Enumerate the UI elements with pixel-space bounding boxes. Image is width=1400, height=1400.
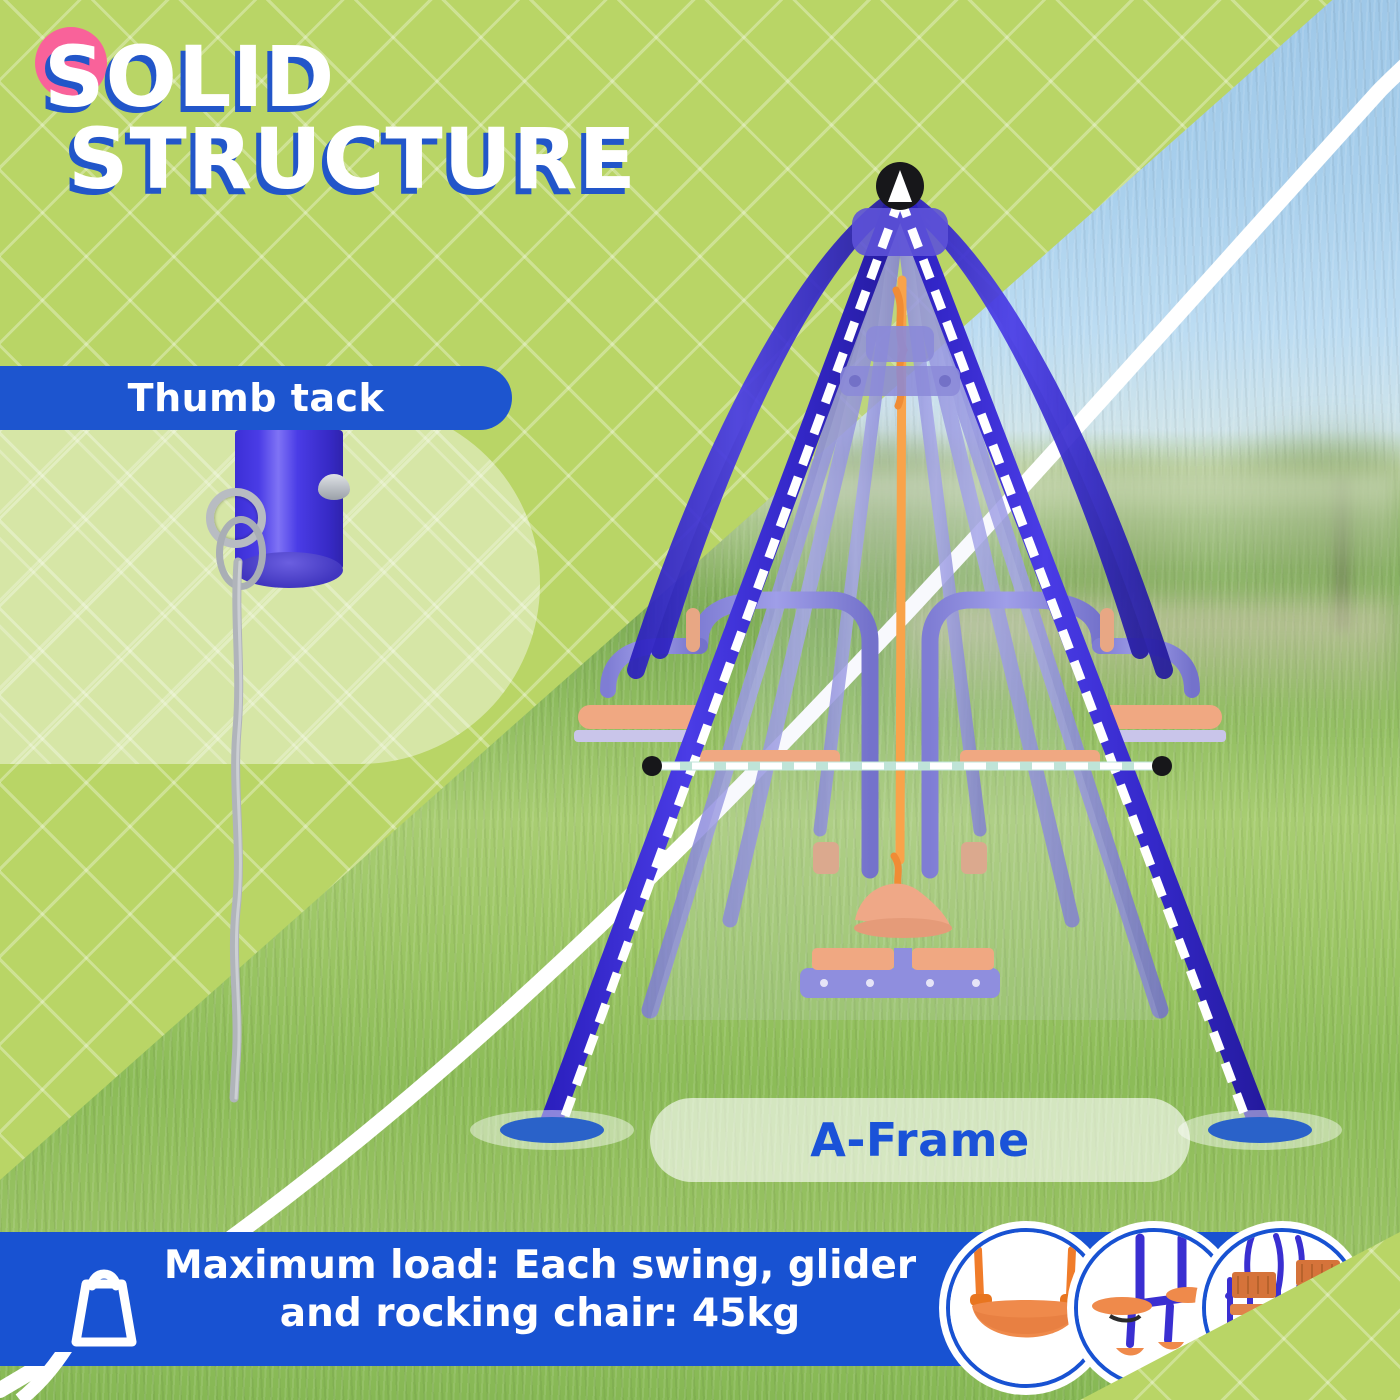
thumb-tack-label: Thumb tack — [128, 376, 385, 420]
banner-green-wedge — [1080, 1232, 1400, 1400]
swing-set-illustration — [400, 130, 1400, 1210]
tack-bolt — [318, 474, 350, 500]
a-frame-label-pill: A-Frame — [650, 1098, 1190, 1182]
lower-left-divider-tail — [0, 1352, 300, 1400]
infographic-canvas: SOLID STRUCTURE Thumb tack — [0, 0, 1400, 1400]
a-frame-label: A-Frame — [810, 1113, 1030, 1167]
